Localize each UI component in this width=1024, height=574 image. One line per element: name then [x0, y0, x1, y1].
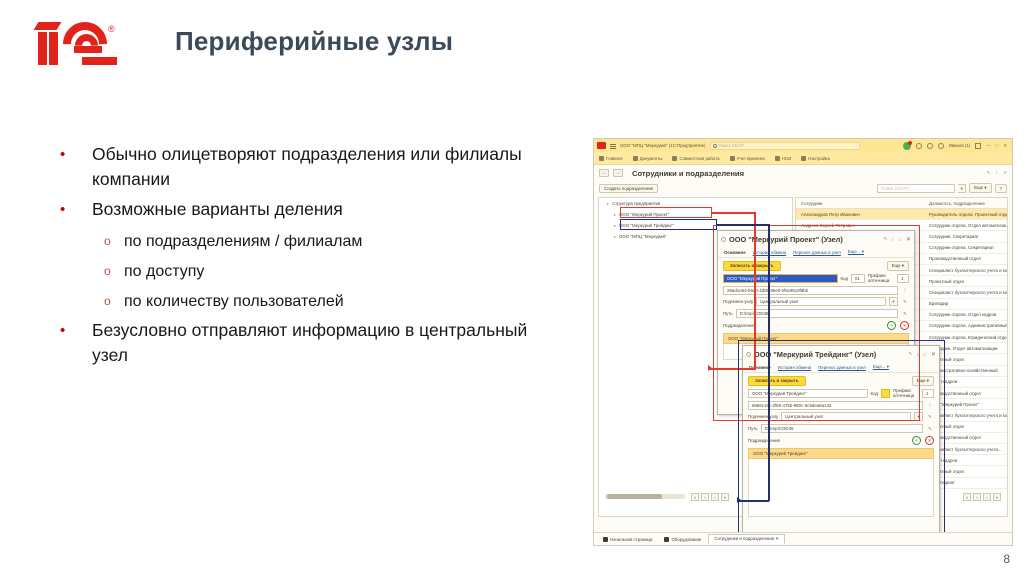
equipment-icon	[664, 537, 669, 542]
horizontal-scrollbar[interactable]	[605, 494, 685, 499]
bullet-text: по подразделениям / филиалам	[124, 228, 362, 255]
close-form-icon[interactable]: ✕	[1003, 170, 1007, 176]
tree-header-label: Структура предприятия	[612, 201, 660, 206]
bullet-marker: •	[52, 197, 92, 223]
pager-prev-button[interactable]: ‹	[701, 493, 709, 501]
info-icon[interactable]: i	[996, 170, 997, 176]
create-subdivision-button[interactable]: Создать подразделение	[599, 184, 658, 193]
bullet-marker: o	[52, 228, 124, 255]
employee-position-cell: Сотрудник отдела, Отдел автоматизации	[929, 223, 1007, 228]
column-header-position[interactable]: Должность, подразделение	[929, 201, 985, 206]
company-logo-1c-icon: ®	[25, 22, 117, 67]
list-item: o по доступу	[52, 258, 542, 285]
favorites-star-icon[interactable]	[927, 143, 933, 149]
presentation-slide: ® Периферийные узлы • Обычно олицетворяю…	[0, 0, 1024, 574]
flag-icon	[599, 156, 604, 161]
menu-item-time-tracking[interactable]: Учет времени	[730, 156, 765, 161]
employees-column-headers: Сотрудник Должность, подразделение	[796, 198, 1007, 209]
tab-label: Сотрудники и подразделения ✕	[714, 536, 779, 542]
expand-icon[interactable]: ▸	[614, 212, 616, 217]
app-logo-icon	[597, 142, 606, 149]
registered-trademark-icon: ®	[108, 24, 118, 34]
expand-icon[interactable]: ▸	[614, 234, 616, 239]
employee-position-cell: Производственный отдел	[929, 256, 1007, 261]
app-title-bar: ООО "МПЦ "Меркурий" (1С:Предприятие) Пои…	[594, 139, 1012, 152]
table-row[interactable]: Александров Петр ИвановичРуководитель от…	[796, 209, 1007, 220]
list-search-input[interactable]: Поиск (Ctrl+F)	[877, 184, 955, 193]
nav-right-icons: ✎ i ✕	[987, 170, 1012, 176]
search-dropdown-icon[interactable]: ▾	[958, 184, 966, 193]
list-item: • Возможные варианты деления	[52, 197, 542, 223]
navigation-bar: ← → Сотрудники и подразделения ✎ i ✕	[594, 165, 1012, 181]
forward-button[interactable]: →	[613, 169, 623, 177]
bullet-list: • Обычно олицетворяют подразделения или …	[52, 142, 542, 373]
search-icon	[713, 144, 717, 148]
menu-label: Совместная работа	[679, 156, 719, 161]
list-item: o по подразделениям / филиалам	[52, 228, 542, 255]
people-icon	[672, 156, 677, 161]
bullet-text: Возможные варианты деления	[92, 197, 343, 222]
back-button[interactable]: ←	[599, 169, 609, 177]
current-user-label: Иванов (1)	[949, 143, 971, 148]
employees-pager: « ‹ › »	[963, 493, 1001, 501]
employee-position-cell: Сотрудник, Секретариат	[929, 234, 1007, 239]
pager-next-button[interactable]: ›	[983, 493, 991, 501]
bullet-text: Обычно олицетворяют подразделения или фи…	[92, 142, 542, 192]
menu-label: Документы	[640, 156, 663, 161]
menu-label: Настройка	[808, 156, 830, 161]
employee-position-cell: Специалист бухгалтерского учета и кон...	[929, 268, 1007, 273]
pager-first-button[interactable]: «	[963, 493, 971, 501]
annotation-frame-navy-dialog	[738, 340, 945, 542]
help-button[interactable]: ?	[995, 184, 1007, 193]
employee-position-cell: Сотрудник отдела, Административный отдел	[929, 323, 1007, 328]
tab-label: Начальная страница	[610, 537, 652, 542]
menu-label: НСИ	[782, 156, 792, 161]
tree-item-label: ООО "МПЦ "Меркурий"	[619, 234, 666, 239]
form-command-bar: Создать подразделение Поиск (Ctrl+F) ▾ Е…	[594, 181, 1012, 195]
bullet-text: по количеству пользователей	[124, 288, 344, 315]
employee-position-cell: Специалист бухгалтерского учета и конт..…	[929, 290, 1007, 295]
maximize-button[interactable]: □	[996, 143, 999, 148]
menu-item-settings[interactable]: Настройка	[801, 156, 830, 161]
expand-icon[interactable]: ▸	[607, 201, 609, 206]
menu-label: Главное	[606, 156, 623, 161]
employee-position-cell: Бригадир	[929, 301, 1007, 306]
annotation-connector-navy-top	[716, 224, 769, 226]
bullet-marker: •	[52, 318, 92, 344]
menu-item-main[interactable]: Главное	[599, 156, 623, 161]
bullet-text: по доступу	[124, 258, 204, 285]
employee-position-cell: Руководитель отдела, Проектный отдел	[929, 212, 1007, 217]
edit-pencil-icon[interactable]: ✎	[987, 170, 991, 176]
slide-header: ® Периферийные узлы	[0, 0, 1024, 88]
employee-position-cell: Сотрудник отдела, Юридический отдел	[929, 335, 1007, 340]
history-icon[interactable]	[916, 143, 922, 149]
employee-position-cell: Сотрудник отдела, Секретариат	[929, 245, 1007, 250]
employee-position-cell: Проектный отдел	[929, 279, 1007, 284]
pager-last-button[interactable]: »	[721, 493, 729, 501]
pager-first-button[interactable]: «	[691, 493, 699, 501]
minimize-button[interactable]: —	[986, 143, 990, 148]
pager-next-button[interactable]: ›	[711, 493, 719, 501]
filter-icon[interactable]	[975, 143, 981, 149]
bullet-marker: •	[52, 142, 92, 168]
app-title: ООО "МПЦ "Меркурий" (1С:Предприятие)	[620, 143, 706, 148]
app-menu-bar: Главное Документы Совместная работа Учет…	[594, 152, 1012, 165]
annotation-arrow-red	[708, 365, 712, 371]
global-search-input[interactable]: Поиск Ctrl+F	[710, 142, 860, 150]
column-header-employee[interactable]: Сотрудник	[801, 201, 929, 206]
employee-name-cell: Александров Петр Иванович	[801, 212, 929, 217]
notification-badge-icon[interactable]	[903, 142, 911, 150]
tab-home-page[interactable]: Начальная страница	[598, 536, 657, 543]
employee-position-cell: Сотрудник отдела, Отдел кадров	[929, 312, 1007, 317]
titlebar-icons: Иванов (1) — □ ✕	[903, 142, 1009, 150]
global-search-placeholder: Поиск Ctrl+F	[719, 143, 744, 148]
pager-last-button[interactable]: »	[993, 493, 1001, 501]
menu-item-nsi[interactable]: НСИ	[775, 156, 792, 161]
tab-employees-and-subdivisions[interactable]: Сотрудники и подразделения ✕	[708, 534, 785, 544]
bullet-text: Безусловно отправляют информацию в центр…	[92, 318, 542, 368]
close-button[interactable]: ✕	[1003, 143, 1007, 149]
more-actions-button[interactable]: Еще ▾	[969, 183, 991, 193]
hamburger-menu-icon[interactable]	[610, 143, 616, 149]
bullet-marker: o	[52, 288, 124, 315]
expand-icon[interactable]: ▸	[614, 223, 616, 228]
embedded-app-screenshot: ООО "МПЦ "Меркурий" (1С:Предприятие) Пои…	[593, 138, 1013, 546]
document-icon	[633, 156, 638, 161]
list-item: o по количеству пользователей	[52, 288, 542, 315]
slide-page-number: 8	[1003, 552, 1010, 566]
list-item: • Безусловно отправляют информацию в цен…	[52, 318, 542, 368]
home-icon	[603, 537, 608, 542]
menu-label: Учет времени	[737, 156, 765, 161]
book-icon	[775, 156, 780, 161]
bullet-marker: o	[52, 258, 124, 285]
menu-item-collaboration[interactable]: Совместная работа	[672, 156, 719, 161]
print-icon[interactable]	[938, 143, 944, 149]
annotation-box-mercury-trading	[620, 219, 717, 230]
bottom-tab-bar: Начальная страница Оборудование Сотрудни…	[594, 532, 1012, 545]
tab-equipment[interactable]: Оборудование	[659, 536, 706, 543]
annotation-box-mercury-project	[620, 207, 712, 218]
list-item: • Обычно олицетворяют подразделения или …	[52, 142, 542, 192]
tree-pager: « ‹ › »	[691, 493, 729, 501]
clock-icon	[730, 156, 735, 161]
gear-icon	[801, 156, 806, 161]
menu-item-documents[interactable]: Документы	[633, 156, 663, 161]
form-title: Сотрудники и подразделения	[632, 169, 744, 178]
page-title: Периферийные узлы	[175, 26, 453, 57]
annotation-connector-red-top	[711, 212, 755, 214]
tab-label: Оборудование	[671, 537, 701, 542]
pager-prev-button[interactable]: ‹	[973, 493, 981, 501]
